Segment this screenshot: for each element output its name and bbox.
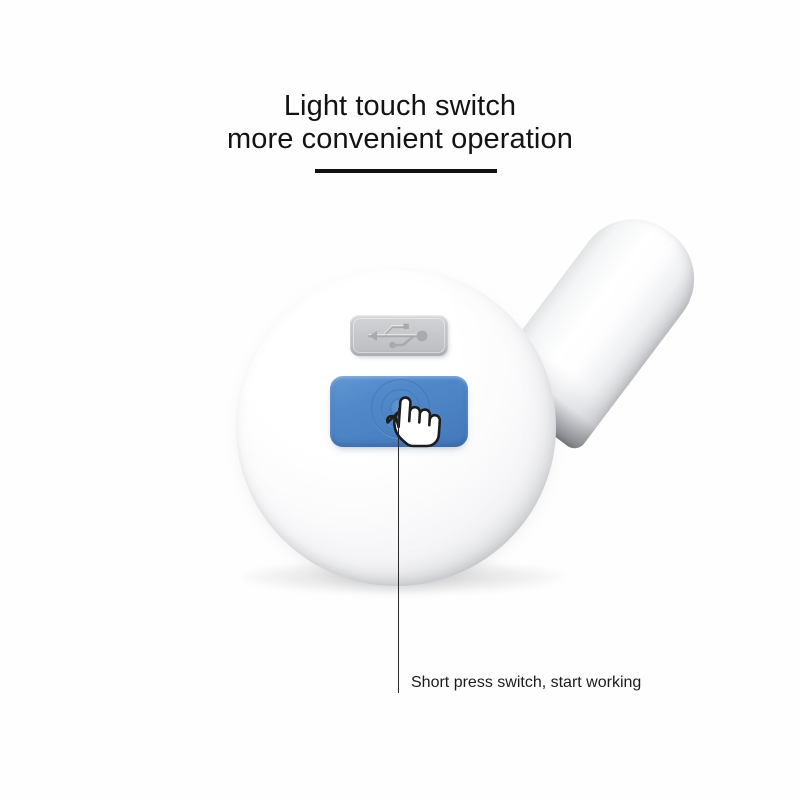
product-marketing-image: Light touch switch more convenient opera… [0,0,800,800]
callout-leader-line [398,408,399,693]
callout-caption: Short press switch, start working [411,673,641,693]
product-illustration: Short press switch, start working [0,0,800,800]
usb-icon [359,320,439,351]
pointing-hand-icon [386,391,448,459]
usb-port[interactable] [350,315,448,356]
